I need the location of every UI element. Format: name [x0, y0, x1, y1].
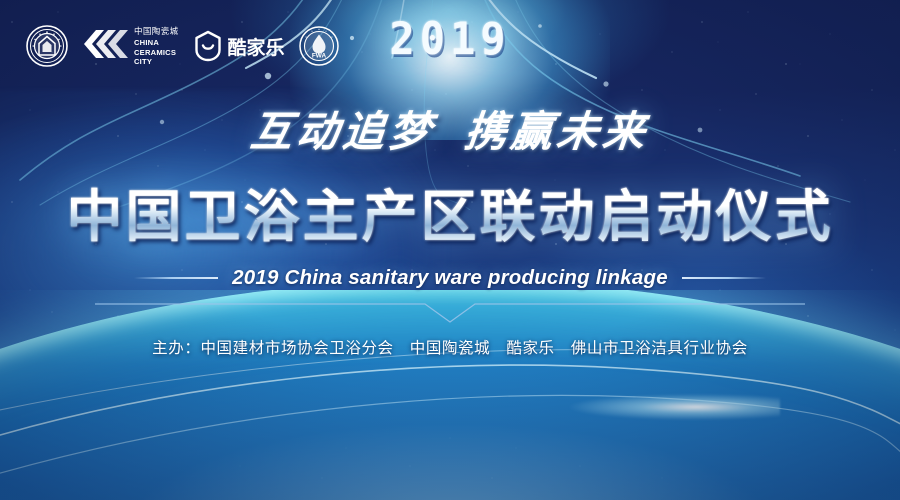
slogan-right: 携赢未来	[462, 98, 652, 159]
organizers-line: 主办：中国建材市场协会卫浴分会 中国陶瓷城 酷家乐 佛山市卫浴洁具行业协会	[0, 336, 900, 358]
organizers-text: 主办：中国建材市场协会卫浴分会 中国陶瓷城 酷家乐 佛山市卫浴洁具行业协会	[152, 336, 748, 358]
ccc-wordmark: 中国陶瓷城 CHINA CERAMICS CITY	[134, 24, 179, 67]
subtitle-row: 2019 China sanitary ware producing linka…	[0, 266, 900, 290]
subtitle-rule-right	[682, 277, 766, 279]
logo-china-ceramics-city: 中国陶瓷城 CHINA CERAMICS CITY	[82, 24, 179, 68]
main-title-text: 中国卫浴主产区联动启动仪式	[67, 172, 834, 253]
chevron-stack-logo-icon	[82, 24, 128, 64]
subtitle-rule-left	[134, 277, 218, 279]
year-text: 2019	[389, 13, 510, 65]
ccc-english-name: CHINA CERAMICS CITY	[134, 38, 179, 67]
kujiale-wordmark: 酷家乐	[228, 33, 285, 60]
logo-kujiale: 酷家乐	[193, 24, 285, 68]
circular-seal-house-emblem-icon	[26, 25, 68, 67]
svg-text:FWA: FWA	[311, 53, 326, 60]
sponsor-logo-bar: 中国陶瓷城 CHINA CERAMICS CITY 酷家乐	[26, 24, 339, 68]
page-title: 中国卫浴主产区联动启动仪式	[0, 172, 900, 253]
logo-cbma-emblem	[26, 24, 68, 68]
event-poster: 中国陶瓷城 CHINA CERAMICS CITY 酷家乐	[0, 0, 900, 500]
calligraphy-slogan: 互动追梦 携赢未来	[0, 98, 900, 159]
circular-badge-droplet-icon: FWA	[299, 26, 339, 66]
v-notch-divider	[95, 300, 805, 326]
logo-fwa: FWA	[299, 24, 339, 68]
shield-smile-icon	[193, 30, 223, 62]
horizon-lens-flare	[570, 394, 780, 420]
ccc-chinese-name: 中国陶瓷城	[134, 27, 179, 36]
subtitle-text: 2019 China sanitary ware producing linka…	[232, 266, 668, 290]
slogan-left: 互动追梦	[247, 98, 437, 159]
